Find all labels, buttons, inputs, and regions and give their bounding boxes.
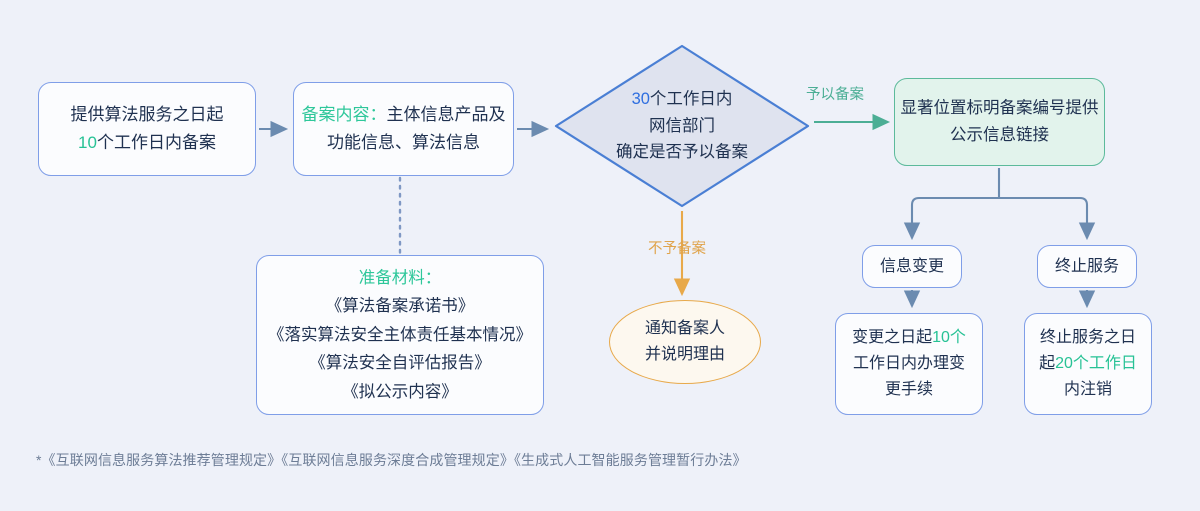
node-notify-applicant[interactable]: 通知备案人 并说明理由 bbox=[609, 300, 761, 384]
node-start-line2-rest: 个工作日内备案 bbox=[97, 133, 216, 152]
node-prepare-materials-item: 《拟公示内容》 bbox=[342, 378, 458, 406]
node-start-line1: 提供算法服务之日起 bbox=[71, 101, 224, 129]
node-stop-detail-line2: 起20个工作日 bbox=[1039, 351, 1137, 377]
node-change-detail-seg1: 变更之日起 bbox=[852, 329, 932, 346]
node-prepare-materials-title: 准备材料： bbox=[359, 264, 442, 292]
node-change-detail-line2: 工作日内办理变 bbox=[853, 351, 965, 377]
flowchart-canvas: 予以备案 不予备案 提供算法服务之日起 10个工作日内备案 备案内容：主体信息产… bbox=[0, 0, 1200, 511]
node-stop-detail-line3: 内注销 bbox=[1064, 377, 1112, 403]
node-decision-number: 30 bbox=[632, 90, 650, 108]
node-terminate-service[interactable]: 终止服务 bbox=[1037, 245, 1137, 288]
node-terminate-procedure-detail[interactable]: 终止服务之日 起20个工作日 内注销 bbox=[1024, 313, 1152, 415]
node-decision-text: 30个工作日内 网信部门 确定是否予以备案 bbox=[616, 86, 748, 166]
node-prepare-materials-item: 《算法安全自评估报告》 bbox=[309, 349, 491, 377]
node-notify-applicant-line1: 通知备案人 bbox=[645, 316, 725, 342]
node-change-detail-seg3: 个 bbox=[950, 329, 966, 346]
node-info-change-label: 信息变更 bbox=[880, 254, 944, 280]
edge-label-reject: 不予备案 bbox=[648, 242, 706, 257]
node-stop-detail-seg1: 起 bbox=[1039, 355, 1055, 372]
node-prepare-materials[interactable]: 准备材料： 《算法备案承诺书》 《落实算法安全主体责任基本情况》 《算法安全自评… bbox=[256, 255, 544, 415]
node-stop-detail-seg3-unit: 个工作日 bbox=[1073, 355, 1137, 372]
node-notify-applicant-line2: 并说明理由 bbox=[645, 342, 725, 368]
node-publish-filing-number[interactable]: 显著位置标明备案编号提供 公示信息链接 bbox=[894, 78, 1105, 166]
node-terminate-service-label: 终止服务 bbox=[1055, 254, 1119, 280]
node-decision-line3: 确定是否予以备案 bbox=[616, 139, 748, 166]
edge-label-approve: 予以备案 bbox=[806, 88, 864, 103]
node-publish-line2: 公示信息链接 bbox=[950, 122, 1049, 149]
edge-publish-to-change bbox=[912, 198, 999, 238]
node-info-change[interactable]: 信息变更 bbox=[862, 245, 962, 288]
node-filing-content[interactable]: 备案内容：主体信息产品及 功能信息、算法信息 bbox=[293, 82, 514, 176]
node-publish-line1: 显著位置标明备案编号提供 bbox=[901, 95, 1099, 122]
node-stop-detail-line1: 终止服务之日 bbox=[1040, 325, 1136, 351]
node-prepare-materials-item: 《算法备案承诺书》 bbox=[326, 292, 475, 320]
node-filing-content-prefix: 备案内容： bbox=[302, 105, 387, 124]
node-decision-line1-rest: 个工作日内 bbox=[650, 90, 733, 108]
node-start[interactable]: 提供算法服务之日起 10个工作日内备案 bbox=[38, 82, 256, 176]
footnote-regulations: *《互联网信息服务算法推荐管理规定》《互联网信息服务深度合成管理规定》《生成式人… bbox=[36, 450, 747, 470]
node-decision[interactable]: 30个工作日内 网信部门 确定是否予以备案 bbox=[553, 43, 811, 209]
node-change-detail-number: 10 bbox=[932, 329, 950, 346]
node-start-line2: 10个工作日内备案 bbox=[78, 129, 216, 157]
node-stop-detail-number: 20 bbox=[1055, 355, 1073, 372]
node-filing-content-line1: 备案内容：主体信息产品及 bbox=[302, 101, 506, 129]
node-decision-line2: 网信部门 bbox=[616, 113, 748, 140]
node-decision-line1: 30个工作日内 bbox=[616, 86, 748, 113]
node-filing-content-line1-rest: 主体信息产品及 bbox=[387, 105, 506, 124]
node-change-procedure-detail[interactable]: 变更之日起10个 工作日内办理变 更手续 bbox=[835, 313, 983, 415]
node-start-number: 10 bbox=[78, 133, 97, 152]
node-prepare-materials-item: 《落实算法安全主体责任基本情况》 bbox=[268, 321, 532, 349]
node-change-detail-line3: 更手续 bbox=[885, 377, 933, 403]
node-filing-content-line2: 功能信息、算法信息 bbox=[327, 129, 480, 157]
node-change-detail-line1: 变更之日起10个 bbox=[852, 325, 966, 351]
edge-publish-to-stop bbox=[999, 198, 1087, 238]
